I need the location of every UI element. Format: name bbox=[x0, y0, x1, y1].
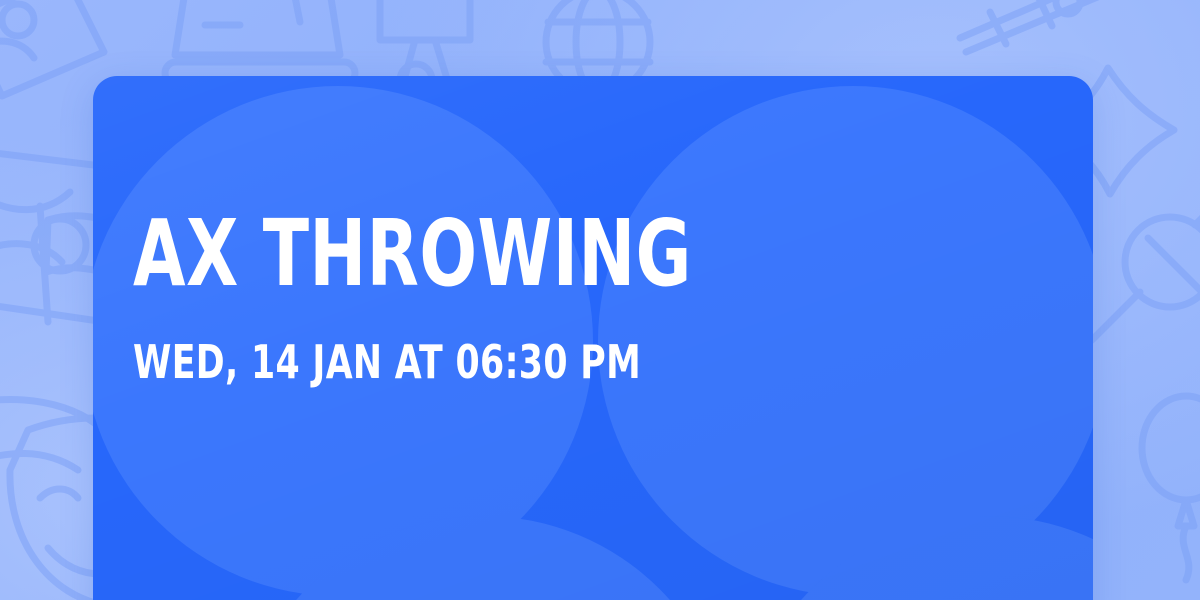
ticket-icon bbox=[0, 0, 104, 96]
event-card-content: AX THROWING WED, 14 JAN AT 06:30 PM bbox=[133, 76, 1053, 600]
event-title: AX THROWING bbox=[133, 210, 887, 297]
disc-icon bbox=[960, 0, 1100, 52]
event-card[interactable]: AX THROWING WED, 14 JAN AT 06:30 PM bbox=[93, 76, 1093, 600]
event-banner: AX THROWING WED, 14 JAN AT 06:30 PM bbox=[0, 0, 1200, 600]
event-datetime: WED, 14 JAN AT 06:30 PM bbox=[133, 297, 906, 385]
microphone-icon bbox=[1092, 215, 1200, 340]
laptop-icon bbox=[165, 0, 355, 84]
balloon-icon bbox=[1142, 396, 1200, 580]
